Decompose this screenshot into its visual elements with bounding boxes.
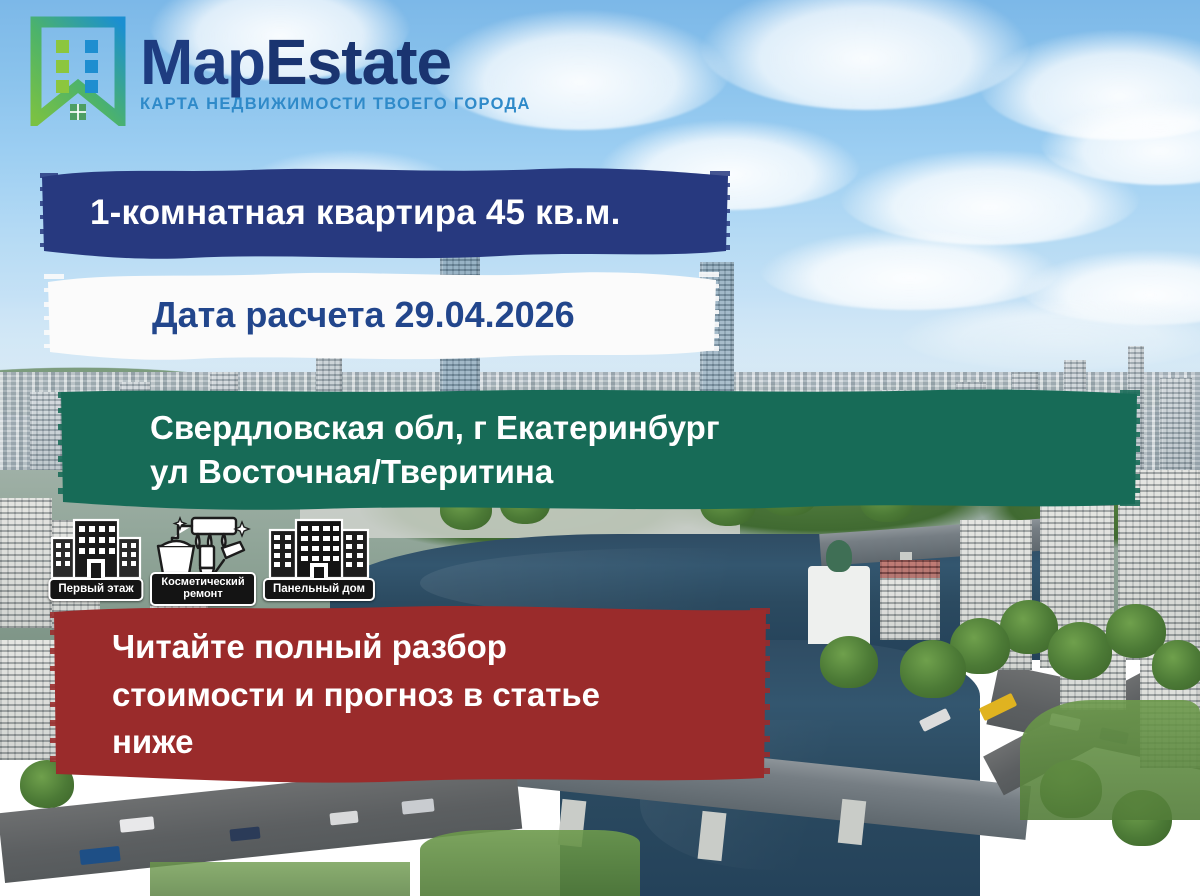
church: [808, 566, 870, 644]
brand-wordmark-estate: Estate: [265, 26, 451, 98]
cta-banner-text: Читайте полный разбор стоимости и прогно…: [50, 623, 600, 767]
office-building-icon: [44, 516, 148, 582]
badge-cosmetic-renovation[interactable]: Косметический ремонт: [148, 512, 258, 608]
property-banner-text: 1-комнатная квартира 45 кв.м.: [40, 193, 621, 233]
brand-wordmark-map: Map: [140, 26, 265, 98]
cta-line-3: ниже: [112, 718, 600, 766]
brand-wordmark: MapEstate: [140, 30, 531, 94]
address-line-2: ул Восточная/Тверитина: [150, 450, 720, 494]
address-line-1: Свердловская обл, г Екатеринбург: [150, 406, 720, 450]
panel-building-icon: [260, 516, 378, 582]
badge-cosmetic-renovation-label: Косметический ремонт: [150, 572, 256, 606]
brand-tagline: КАРТА НЕДВИЖИМОСТИ ТВОЕГО ГОРОДА: [140, 96, 531, 113]
cta-line-1: Читайте полный разбор: [112, 623, 600, 671]
cta-line-2: стоимости и прогноз в статье: [112, 671, 600, 719]
cta-banner: Читайте полный разбор стоимости и прогно…: [50, 602, 770, 787]
badge-panel-house[interactable]: Панельный дом: [260, 516, 378, 602]
address-banner-text: Свердловская обл, г Екатеринбург ул Вост…: [58, 406, 720, 493]
promo-card: MapEstate КАРТА НЕДВИЖИМОСТИ ТВОЕГО ГОРО…: [0, 0, 1200, 896]
bookmark-building-icon: [30, 16, 126, 126]
calc-date-banner-text: Дата расчета 29.04.2026: [44, 294, 575, 336]
badge-panel-house-label: Панельный дом: [263, 578, 375, 601]
property-banner: 1-комнатная квартира 45 кв.м.: [40, 163, 730, 263]
badge-first-floor-label: Первый этаж: [48, 578, 143, 601]
badge-first-floor[interactable]: Первый этаж: [44, 516, 148, 602]
brand-logo[interactable]: MapEstate КАРТА НЕДВИЖИМОСТИ ТВОЕГО ГОРО…: [30, 16, 531, 126]
address-banner: Свердловская обл, г Екатеринбург ул Вост…: [58, 386, 1140, 513]
calc-date-banner: Дата расчета 29.04.2026: [44, 266, 719, 364]
